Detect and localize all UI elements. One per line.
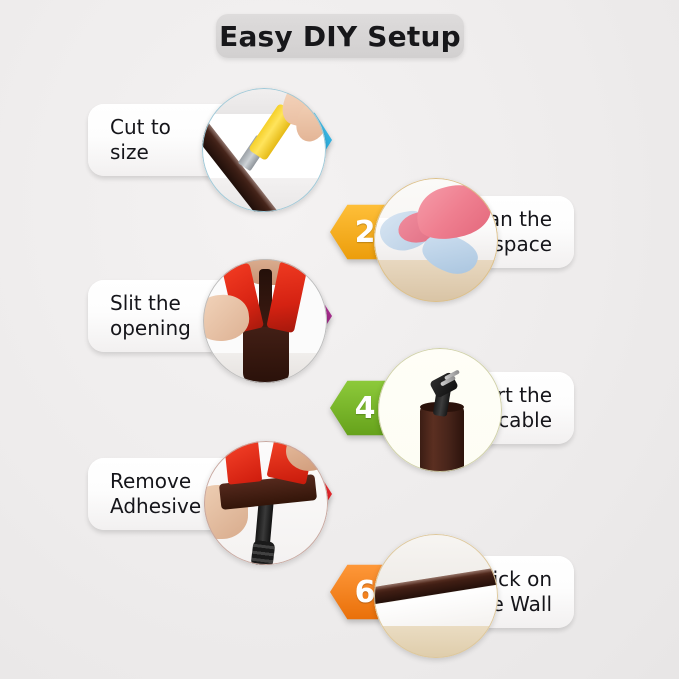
insert-the-cable-photo	[378, 348, 502, 472]
stick-on-the-wall-photo	[374, 534, 498, 658]
clean-the-space-photo	[374, 178, 498, 302]
photo-content-5	[204, 441, 328, 565]
infographic-canvas: Easy DIY Setup Cut to size 1 2	[0, 0, 679, 679]
step-number-6: 6	[355, 575, 376, 610]
page-title-pill: Easy DIY Setup	[216, 14, 464, 58]
adhesive-tab-left	[224, 441, 262, 485]
photo-content-6	[374, 534, 498, 658]
slit-the-opening-photo	[203, 259, 327, 383]
photo-content-4	[378, 348, 502, 472]
remove-adhesive-photo	[204, 441, 328, 565]
cable-coil-shape	[250, 540, 275, 565]
step-number-2: 2	[355, 215, 376, 250]
photo-content-1	[202, 88, 326, 212]
step-number-4: 4	[355, 391, 376, 426]
photo-content-3	[203, 259, 327, 383]
floor-shape	[374, 626, 498, 658]
photo-content-2	[374, 178, 498, 302]
page-title: Easy DIY Setup	[219, 20, 461, 53]
cut-to-size-photo	[202, 88, 326, 212]
